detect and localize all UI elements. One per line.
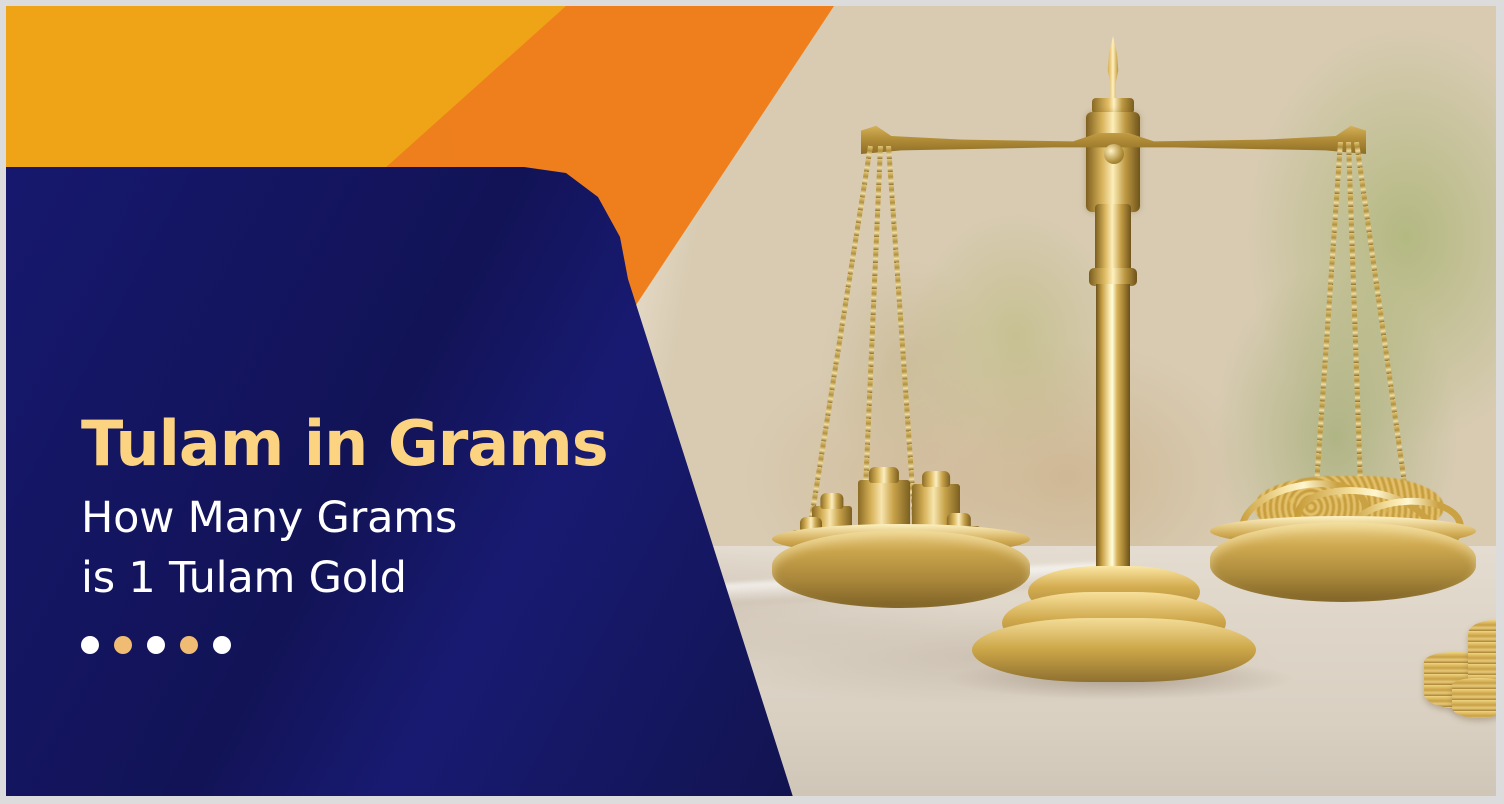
- scale-column: [1095, 204, 1131, 276]
- banner-artboard: Tulam in Grams How Many Grams is 1 Tulam…: [6, 6, 1496, 796]
- scale-finial-icon: [1102, 36, 1124, 102]
- decorative-dot-row: [81, 636, 741, 654]
- dot-5: [213, 636, 231, 654]
- page-subtitle-line-2: is 1 Tulam Gold: [81, 553, 407, 603]
- dot-2: [114, 636, 132, 654]
- dot-3: [147, 636, 165, 654]
- scale-shaft: [1096, 284, 1130, 574]
- scale-pivot-dot: [1104, 144, 1124, 164]
- pan-right: [1210, 522, 1476, 602]
- chain-right-inner: [1311, 142, 1343, 533]
- scale-base-tier-3: [972, 618, 1256, 682]
- dot-4: [180, 636, 198, 654]
- pan-left: [772, 530, 1030, 608]
- page-subtitle-line-1: How Many Grams: [81, 493, 457, 543]
- page-title: Tulam in Grams: [81, 412, 741, 475]
- banner-frame: Tulam in Grams How Many Grams is 1 Tulam…: [0, 0, 1504, 804]
- page-subtitle: How Many Grams is 1 Tulam Gold: [81, 489, 741, 608]
- dot-1: [81, 636, 99, 654]
- gold-coin-stack: [1452, 678, 1496, 718]
- chain-right-outer: [1354, 142, 1414, 531]
- copy-block: Tulam in Grams How Many Grams is 1 Tulam…: [81, 412, 741, 654]
